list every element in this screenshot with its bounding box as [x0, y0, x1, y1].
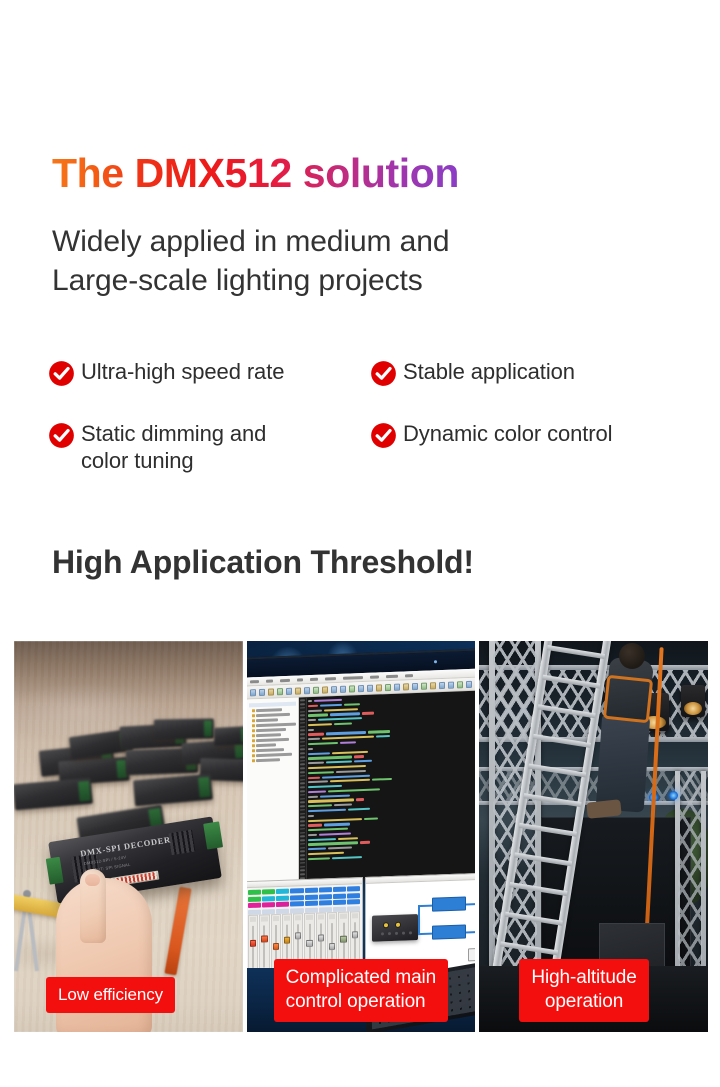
status-badge: Complicated main control operation: [274, 959, 448, 1022]
computer-monitor: [247, 648, 476, 885]
feature-row: Ultra-high speed rate Stable application: [48, 358, 708, 420]
feature-label: Dynamic color control: [403, 420, 612, 447]
marketing-slide: The DMX512 solution Widely applied in me…: [0, 0, 720, 1087]
ide-body: [247, 691, 476, 884]
status-badge: Low efficiency: [46, 977, 175, 1013]
panel-low-efficiency: DMX-SPI DECODER DMX512-SPI / 5-24V OUTPU…: [14, 641, 243, 1032]
feature-item: Ultra-high speed rate: [48, 358, 284, 387]
line-number-gutter: [299, 697, 307, 881]
panel-image-low-efficiency: DMX-SPI DECODER DMX512-SPI / 5-24V OUTPU…: [14, 641, 243, 1032]
connector-strip: [168, 830, 195, 855]
page-title: The DMX512 solution: [52, 150, 459, 197]
pointing-finger: [80, 869, 106, 943]
decoder-device: [214, 726, 243, 746]
diagram-node: [432, 924, 466, 939]
check-circle-icon: [370, 422, 397, 449]
decoder-device: [154, 718, 214, 739]
check-circle-icon: [48, 422, 75, 449]
feature-item: Static dimming and color tuning: [48, 420, 266, 474]
wiring-diagram-window: [365, 873, 476, 973]
panel-complicated-control: Complicated main control operation: [247, 641, 476, 1032]
project-tree: [247, 697, 299, 883]
panel-high-altitude: High-altitude operation: [479, 641, 708, 1032]
image-panel-strip: DMX-SPI DECODER DMX512-SPI / 5-24V OUTPU…: [14, 641, 708, 1032]
check-circle-icon: [48, 360, 75, 387]
diagram-node: [432, 896, 466, 911]
feature-list: Ultra-high speed rate Stable application: [48, 358, 708, 482]
fader-strip[interactable]: [248, 915, 258, 973]
feature-label: Stable application: [403, 358, 575, 385]
terminal-block: [46, 857, 64, 885]
subtitle: Widely applied in medium and Large-scale…: [52, 222, 449, 300]
diagram-node: [468, 947, 476, 961]
worker-legs: [596, 711, 651, 812]
check-circle-icon: [370, 360, 397, 387]
feature-item: Stable application: [370, 358, 575, 387]
feature-item: Dynamic color control: [370, 420, 612, 449]
stage-light-fixture: [681, 685, 705, 717]
interface-device: [372, 914, 418, 942]
feature-label: Static dimming and color tuning: [81, 420, 266, 474]
safety-harness: [603, 675, 653, 724]
section-heading: High Application Threshold!: [52, 544, 474, 581]
feature-row: Static dimming and color tuning Dynamic …: [48, 420, 708, 482]
ide-window: [247, 669, 476, 884]
fader-strip[interactable]: [259, 914, 269, 972]
status-badge: High-altitude operation: [519, 959, 648, 1022]
feature-label: Ultra-high speed rate: [81, 358, 284, 385]
code-editor: [299, 691, 476, 882]
diagram-title-bar: [366, 874, 476, 884]
